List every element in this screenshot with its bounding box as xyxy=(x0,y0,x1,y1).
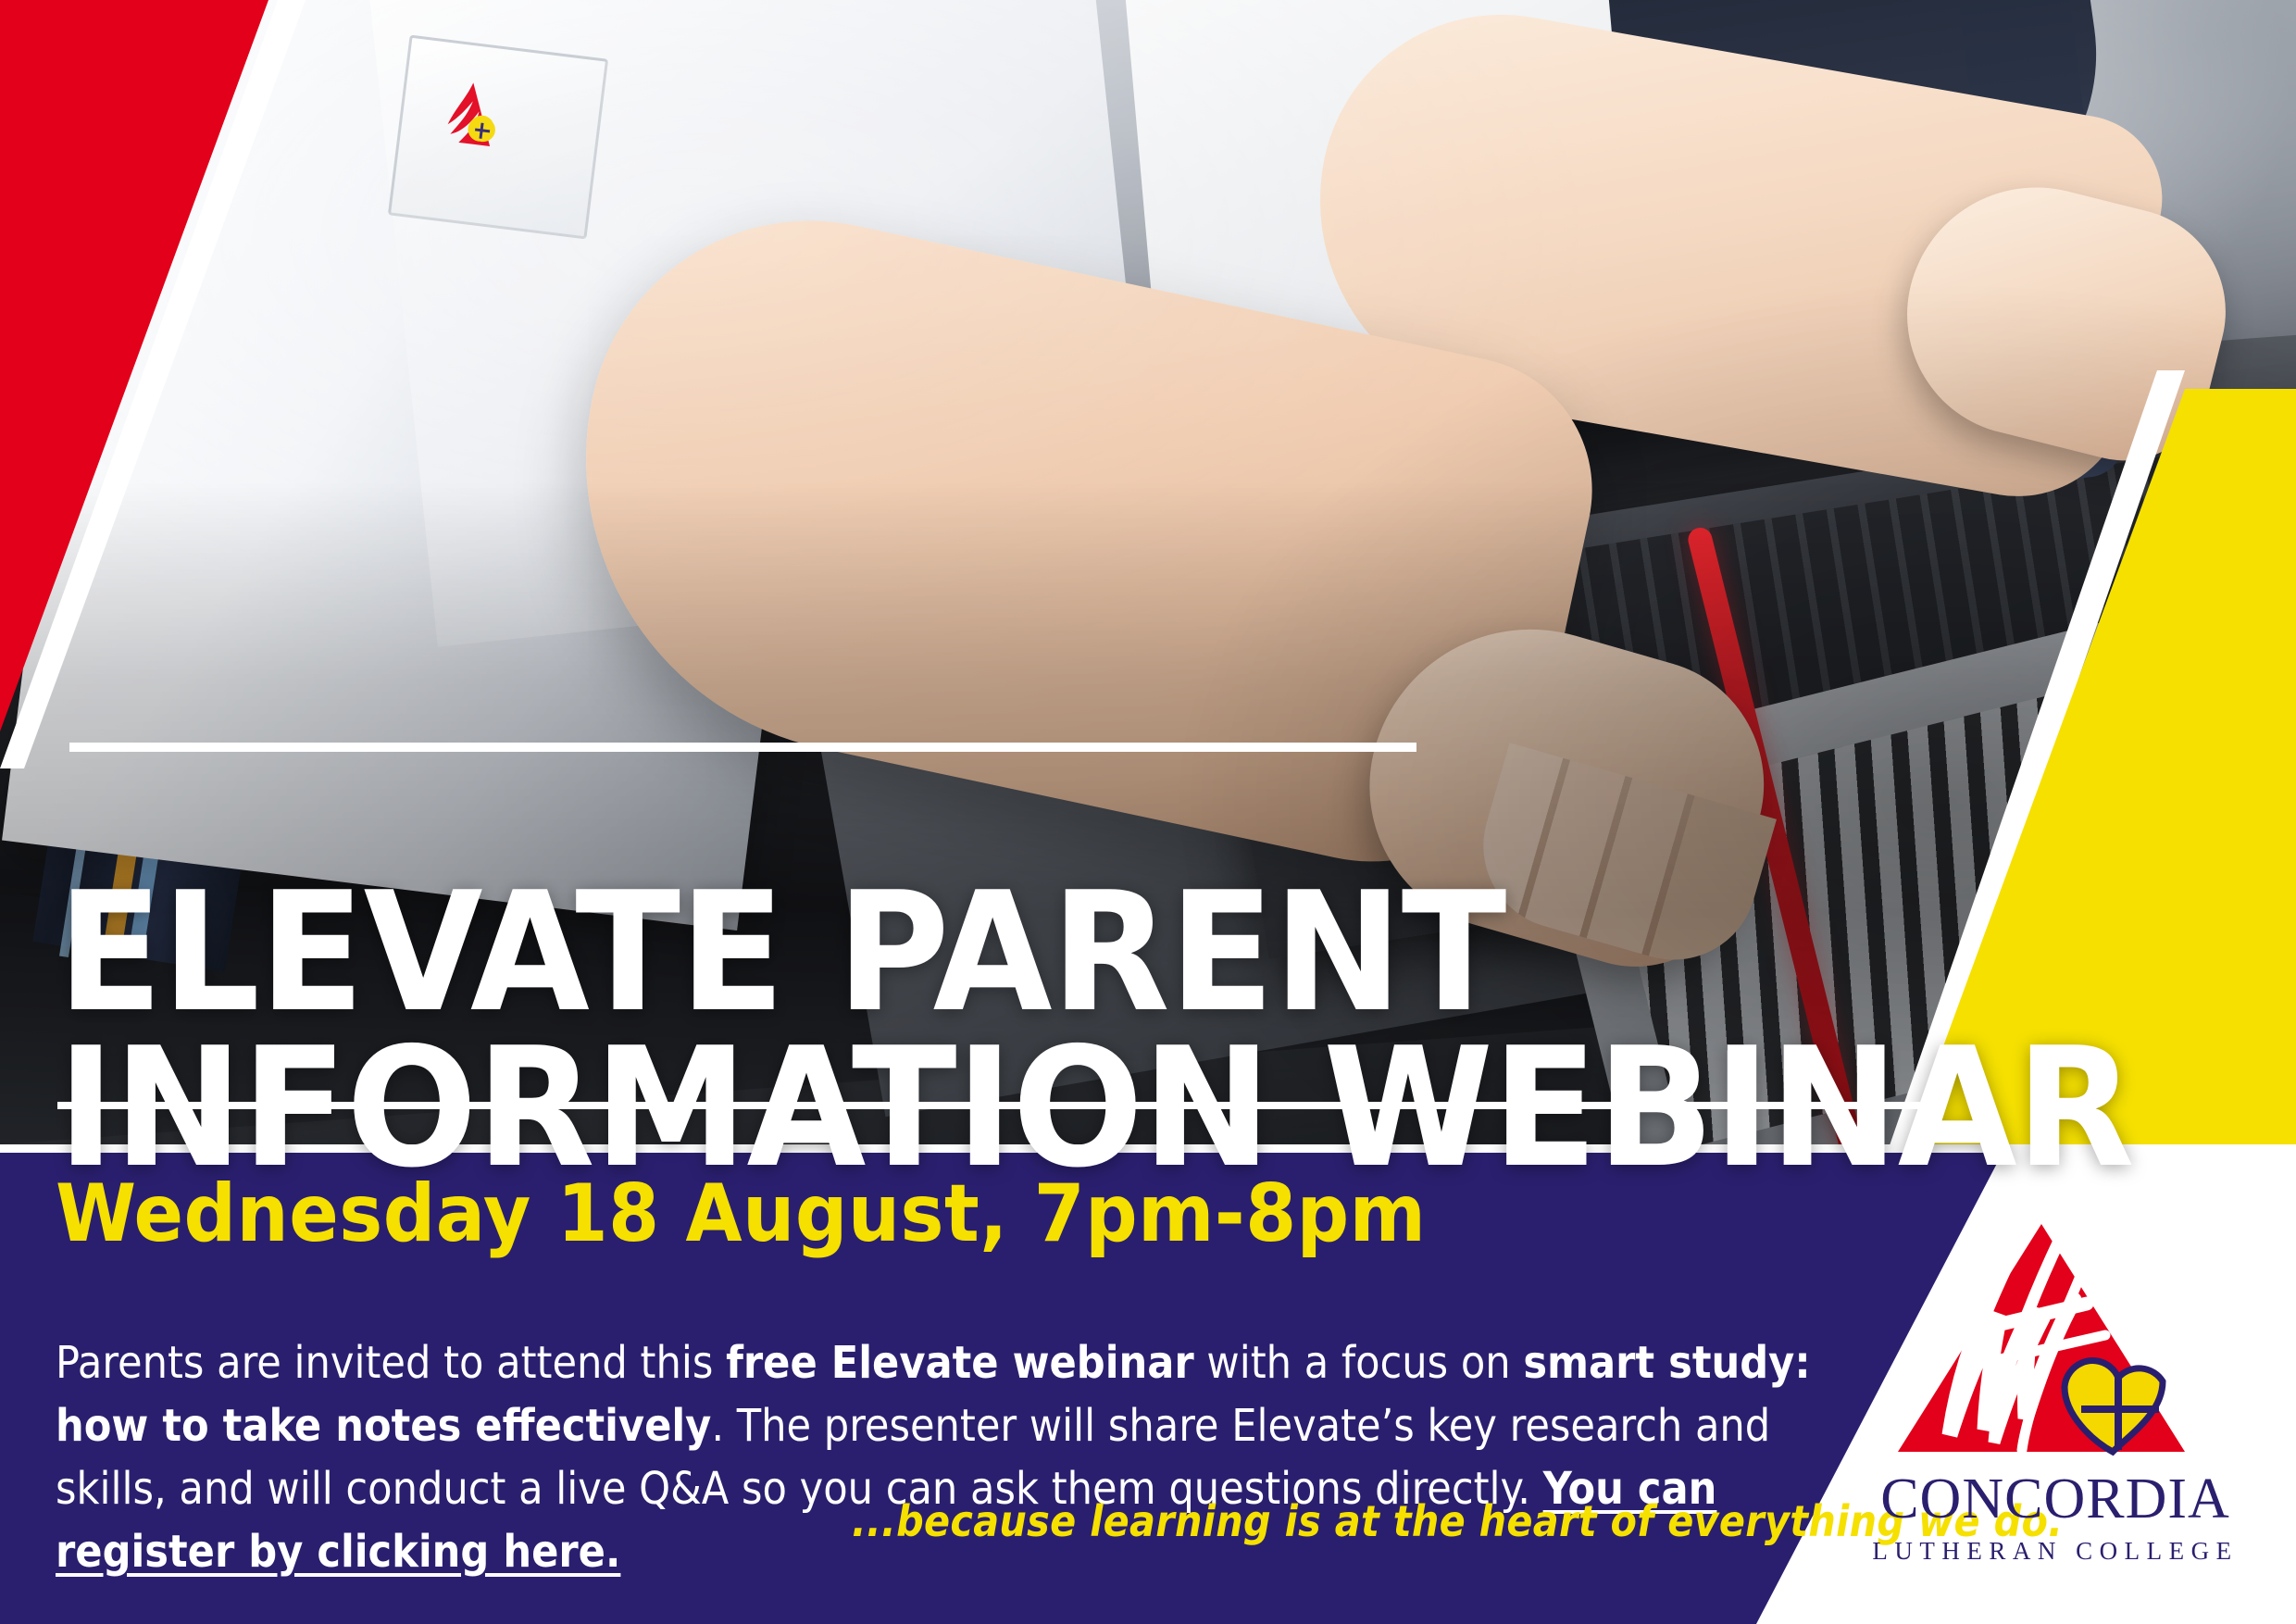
logo-subtitle: LUTHERAN COLLEGE xyxy=(1852,1539,2259,1564)
concordia-logo: CONCORDIA LUTHERAN COLLEGE xyxy=(1852,1204,2259,1602)
concordia-flame-cross-heart-icon xyxy=(1889,1204,2194,1463)
logo-wordmark: CONCORDIA xyxy=(1852,1470,2259,1528)
flyer-poster: ELEVATE PARENTINFORMATION WEBINAR Wednes… xyxy=(0,0,2296,1624)
headline-rule-bottom xyxy=(57,1102,1921,1109)
body-bold-free-webinar: free Elevate webinar xyxy=(726,1337,1194,1389)
body-segment-2: with a focus on xyxy=(1194,1337,1524,1389)
event-date: Wednesday 18 August, 7pm-8pm xyxy=(56,1174,1426,1254)
body-segment-1: Parents are invited to attend this xyxy=(56,1337,726,1389)
headline-rule-top xyxy=(69,743,1416,752)
page-title: ELEVATE PARENTINFORMATION WEBINAR xyxy=(57,875,2272,1185)
